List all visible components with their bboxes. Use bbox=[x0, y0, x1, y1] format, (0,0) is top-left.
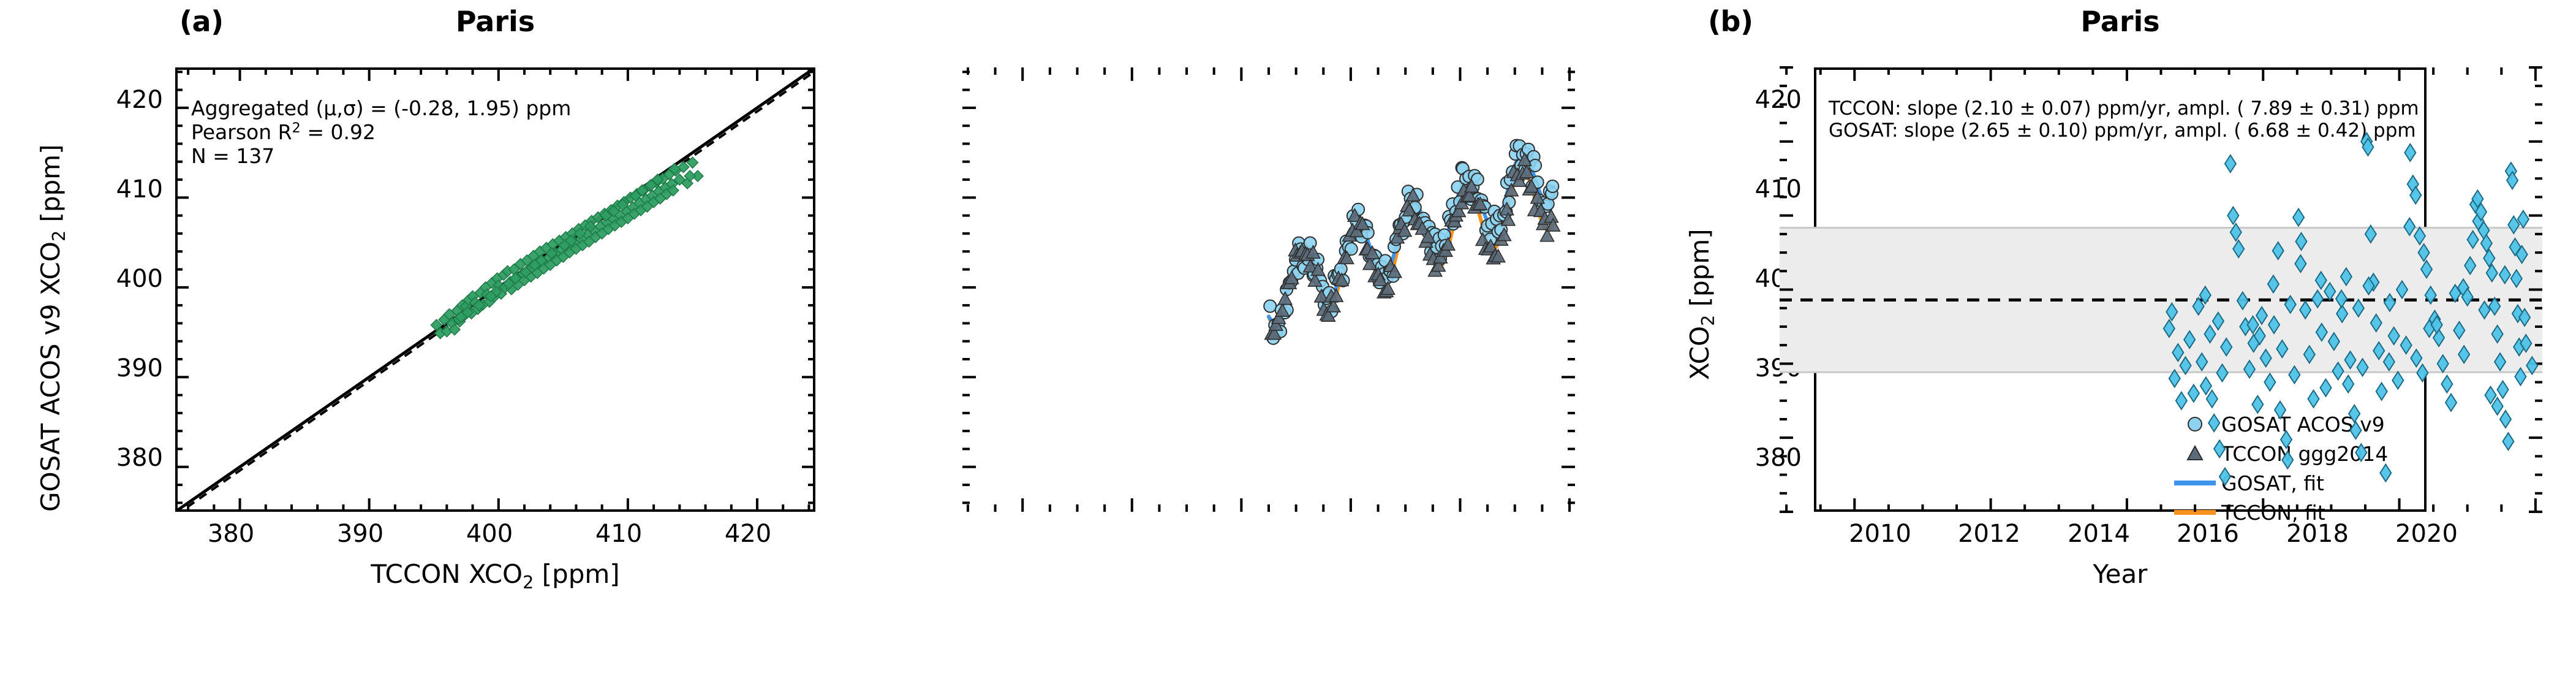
figure-root: (a) Paris 420 410 400 390 380 380 390 40… bbox=[0, 0, 2576, 692]
panel-b: (b) Paris 420 410 400 390 380 2010 2012 … bbox=[852, 0, 1617, 692]
panel-c: (c) Paris 6 4 2 0 -2 -4 -6 2010 2012 201… bbox=[1617, 0, 2576, 692]
panel-c-plot bbox=[0, 0, 959, 692]
